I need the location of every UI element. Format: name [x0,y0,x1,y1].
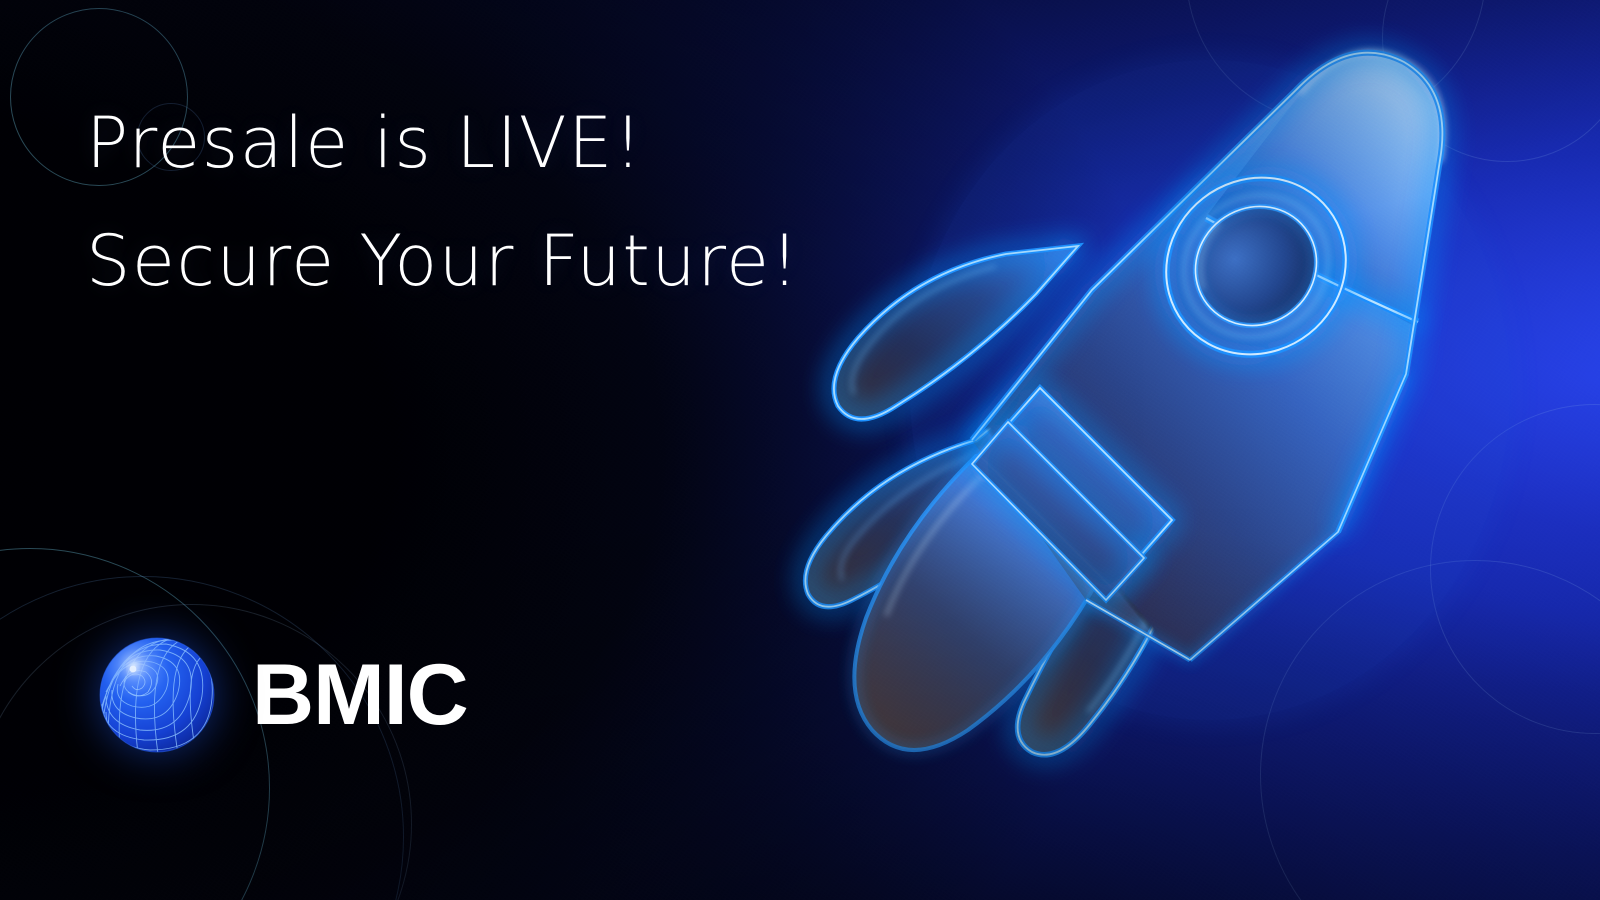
page-title: Presale is LIVE! Secure Your Future! [86,84,846,320]
blue-contour-sphere-icon [98,636,216,754]
brand-lockup: BMIC [98,636,468,754]
brand-name: BMIC [252,652,468,738]
promo-banner: Presale is LIVE! Secure Your Future! [0,0,1600,900]
